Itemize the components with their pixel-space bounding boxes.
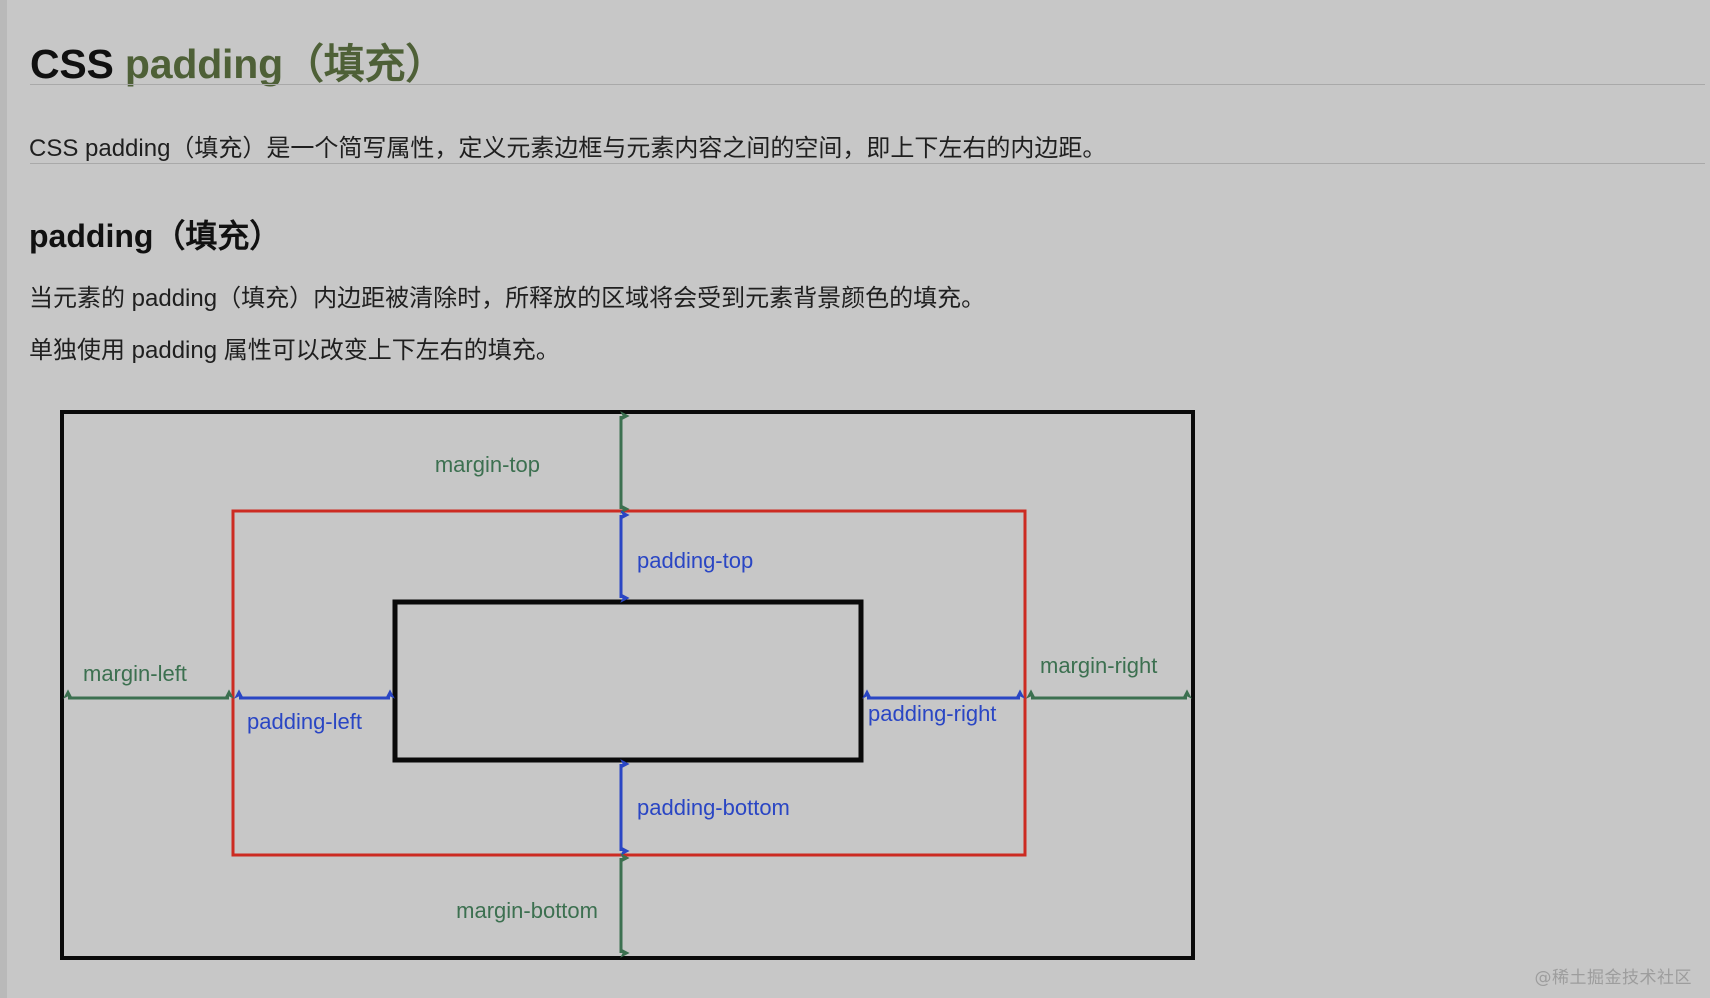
label-padding-bottom: padding-bottom — [637, 795, 790, 820]
section-paragraph-2: 单独使用 padding 属性可以改变上下左右的填充。 — [29, 334, 560, 368]
watermark: @稀土掘金技术社区 — [1535, 963, 1693, 988]
intro-paragraph: CSS padding（填充）是一个简写属性，定义元素边框与元素内容之间的空间，… — [29, 132, 1106, 166]
label-padding-left: padding-left — [247, 709, 362, 734]
section-paragraph-1: 当元素的 padding（填充）内边距被清除时，所释放的区域将会受到元素背景颜色… — [29, 282, 985, 316]
label-padding-right: padding-right — [868, 701, 996, 726]
label-margin-left: margin-left — [83, 661, 187, 686]
section-heading: padding（填充） — [29, 214, 281, 259]
content-box — [395, 602, 861, 760]
label-padding-top: padding-top — [637, 548, 753, 573]
page-title: CSS padding（填充） — [30, 35, 446, 94]
label-margin-top: margin-top — [435, 452, 540, 477]
divider-below-intro — [30, 163, 1705, 164]
label-margin-bottom: margin-bottom — [456, 898, 598, 923]
label-margin-right: margin-right — [1040, 653, 1157, 678]
padding-box — [233, 511, 1025, 855]
margin-box — [62, 412, 1193, 958]
divider-top — [30, 84, 1705, 85]
page-title-prefix: CSS — [30, 41, 125, 87]
page-title-highlight: padding（填充） — [125, 41, 446, 87]
page-left-gutter-rule — [0, 0, 7, 998]
